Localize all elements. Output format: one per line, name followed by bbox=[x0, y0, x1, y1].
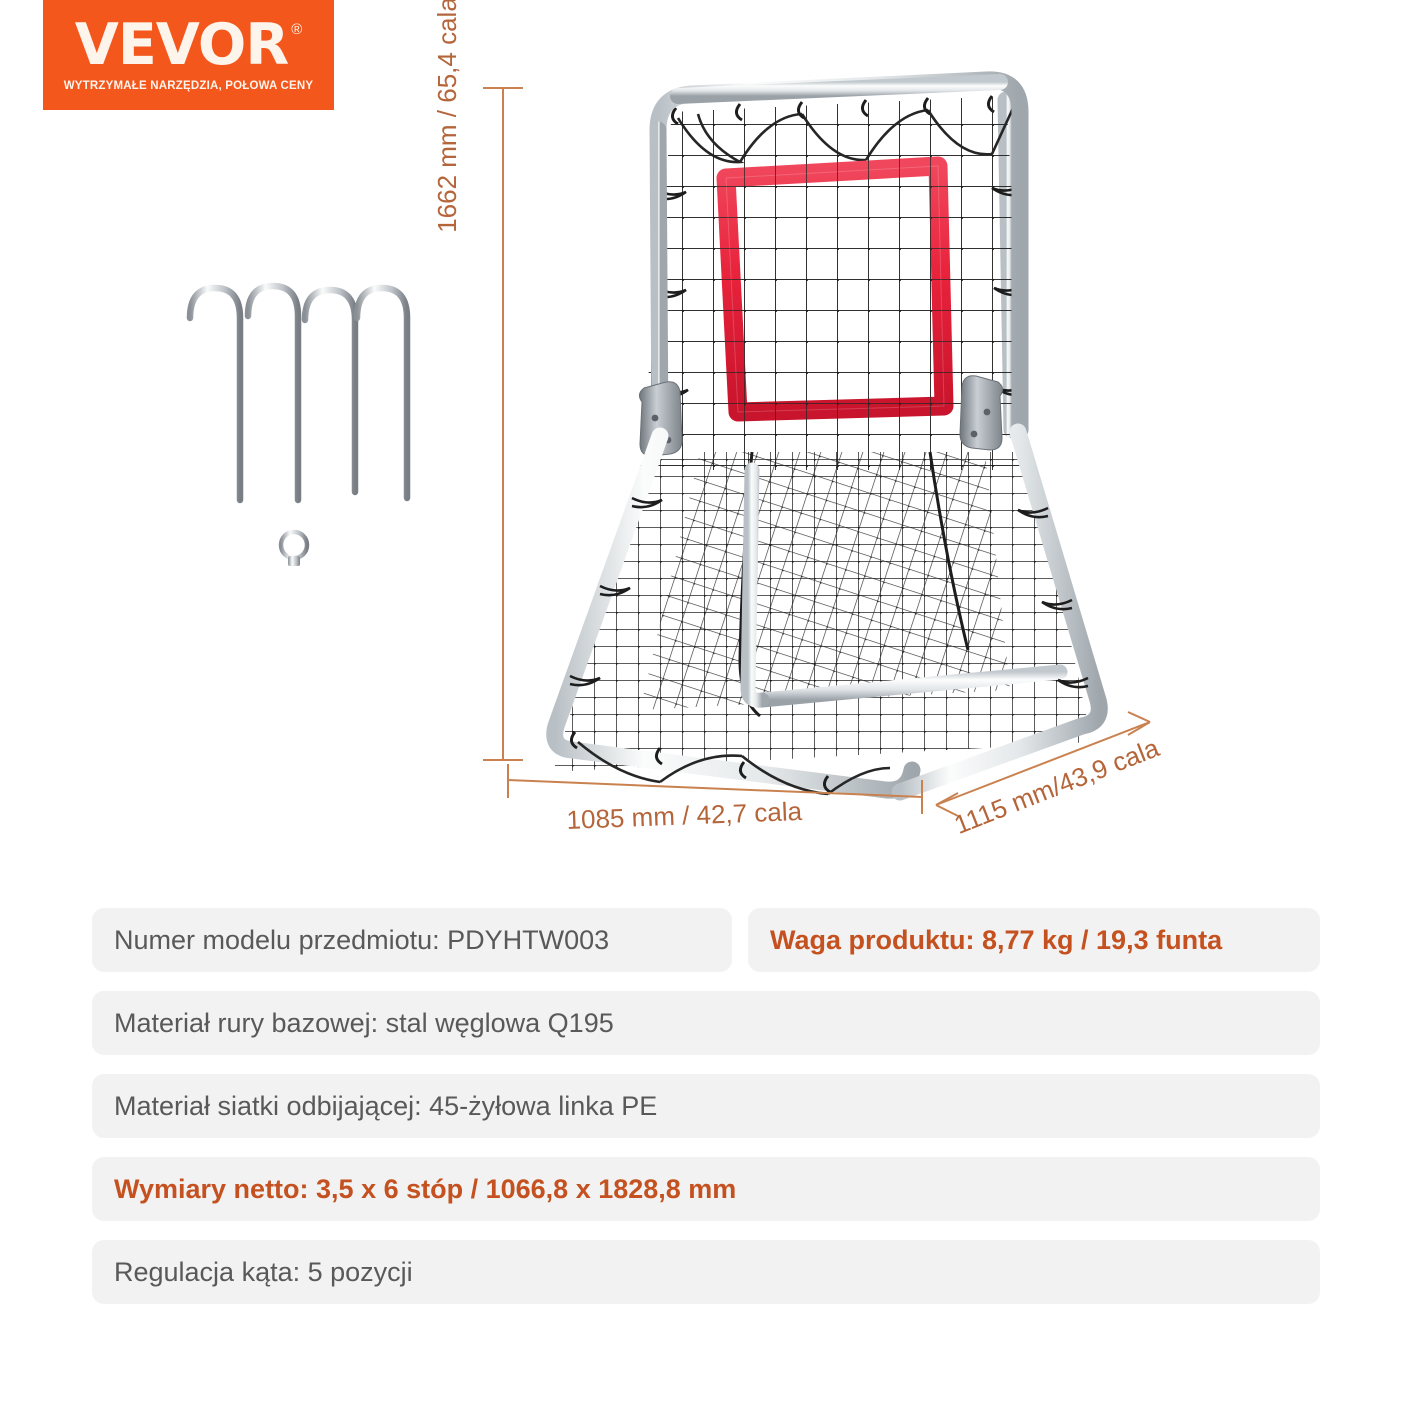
spec-pill-net-material: Materiał siatki odbijającej: 45-żyłowa l… bbox=[92, 1074, 1320, 1138]
specification-table: Numer modelu przedmiotu: PDYHTW003 Waga … bbox=[92, 908, 1320, 1304]
spec-text: Materiał rury bazowej: stal węglowa Q195 bbox=[114, 1008, 614, 1039]
dimension-label-height: 1662 mm / 65,4 cala bbox=[432, 0, 463, 245]
spec-row: Wymiary netto: 3,5 x 6 stóp / 1066,8 x 1… bbox=[92, 1157, 1320, 1221]
spec-pill-angle-adjustment: Regulacja kąta: 5 pozycji bbox=[92, 1240, 1320, 1304]
ground-stake-icon-2 bbox=[248, 286, 298, 500]
spec-pill-model-number: Numer modelu przedmiotu: PDYHTW003 bbox=[92, 908, 732, 972]
spec-pill-net-dimensions: Wymiary netto: 3,5 x 6 stóp / 1066,8 x 1… bbox=[92, 1157, 1320, 1221]
ground-stake-icon-1 bbox=[190, 288, 240, 500]
ground-stake-icon-4 bbox=[357, 288, 407, 498]
spec-text: Wymiary netto: 3,5 x 6 stóp / 1066,8 x 1… bbox=[114, 1174, 736, 1205]
spec-row: Materiał rury bazowej: stal węglowa Q195 bbox=[92, 991, 1320, 1055]
spec-row: Materiał siatki odbijającej: 45-żyłowa l… bbox=[92, 1074, 1320, 1138]
ring-pin-icon bbox=[281, 532, 307, 608]
spec-row: Numer modelu przedmiotu: PDYHTW003 Waga … bbox=[92, 908, 1320, 972]
spec-text: Regulacja kąta: 5 pozycji bbox=[114, 1257, 413, 1288]
angle-adjustment-bracket-right bbox=[960, 376, 1003, 450]
spec-text: Waga produktu: 8,77 kg / 19,3 funta bbox=[770, 925, 1222, 956]
spec-row: Regulacja kąta: 5 pozycji bbox=[92, 1240, 1320, 1304]
ground-stake-icon-3 bbox=[305, 290, 355, 492]
spec-pill-product-weight: Waga produktu: 8,77 kg / 19,3 funta bbox=[748, 908, 1320, 972]
product-illustration bbox=[0, 0, 1414, 880]
spec-text: Materiał siatki odbijającej: 45-żyłowa l… bbox=[114, 1091, 657, 1122]
spec-text: Numer modelu przedmiotu: PDYHTW003 bbox=[114, 925, 609, 956]
spec-pill-base-tube-material: Materiał rury bazowej: stal węglowa Q195 bbox=[92, 991, 1320, 1055]
dimension-line-height bbox=[483, 88, 523, 760]
